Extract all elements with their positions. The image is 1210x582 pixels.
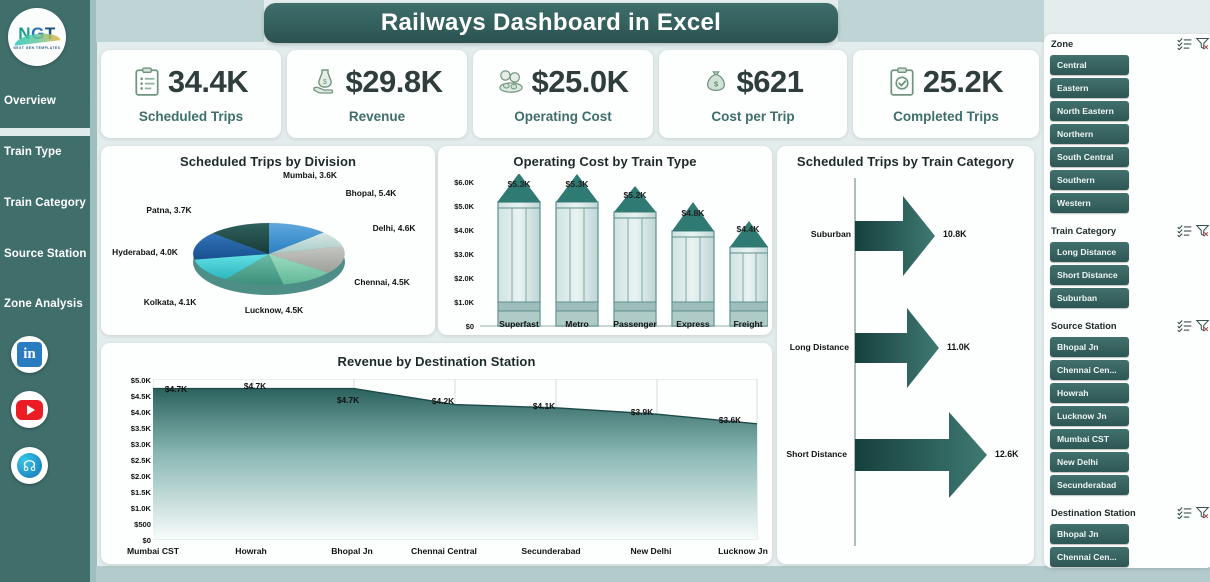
x-label-passenger: Passenger: [605, 319, 665, 329]
chart-operating-cost-by-train-type[interactable]: Operating Cost by Train Type $0 $1.0K $2…: [438, 146, 772, 335]
area-value-howrah: $4.7K: [234, 381, 276, 391]
y-tick-1: $500: [109, 520, 151, 529]
y-tick-3: $1.5K: [109, 488, 151, 497]
pie-label-chennai: Chennai, 4.5K: [351, 278, 413, 288]
y-tick-5: $2.5K: [109, 456, 151, 465]
x-label-express: Express: [663, 319, 723, 329]
x-label-bhopal-jn: Bhopal Jn: [306, 546, 398, 556]
kpi-value: $25.0K: [532, 64, 629, 100]
slicer-option[interactable]: Central: [1050, 55, 1129, 75]
coins-stack-icon: [498, 67, 524, 97]
slicer-option[interactable]: Eastern: [1050, 78, 1129, 98]
chart-title: Revenue by Destination Station: [101, 343, 772, 369]
bar-value-express: $4.8K: [670, 208, 716, 218]
x-label-superfast: Superfast: [489, 319, 549, 329]
youtube-icon[interactable]: [11, 391, 48, 428]
area-value-lucknow-jn: $3.6K: [709, 415, 751, 425]
slicer-option[interactable]: Bhopal Jn: [1050, 337, 1129, 357]
chart-title: Scheduled Trips by Train Category: [777, 146, 1034, 169]
arrow-label-short-distance: Short Distance: [777, 449, 847, 459]
multi-select-icon[interactable]: [1177, 224, 1192, 237]
kpi-label: Revenue: [349, 109, 405, 124]
page-title: Railways Dashboard in Excel: [264, 3, 838, 43]
clipboard-list-icon: [134, 67, 160, 97]
x-label-lucknow-jn: Lucknow Jn: [697, 546, 789, 556]
pie-label-bhopal: Bhopal, 5.4K: [333, 189, 409, 199]
slicer-option[interactable]: Northern: [1050, 124, 1129, 144]
slicer-title: Destination Station: [1051, 508, 1174, 518]
kpi-value: 25.2K: [923, 64, 1003, 100]
sidebar-item-train-category[interactable]: Train Category: [4, 197, 86, 209]
slicer-header-destination-station: Destination Station: [1044, 503, 1210, 522]
chart-title: Scheduled Trips by Division: [101, 146, 435, 169]
kpi-value: 34.4K: [168, 64, 248, 100]
clear-filter-icon[interactable]: [1195, 319, 1210, 332]
multi-select-icon[interactable]: [1177, 506, 1192, 519]
sidebar-item-overview[interactable]: Overview: [4, 95, 56, 107]
kpi-card-revenue[interactable]: $ $29.8K Revenue: [287, 50, 467, 138]
header-band-left: [96, 0, 264, 42]
y-tick-6: $6.0K: [440, 178, 474, 187]
slicer-title: Zone: [1051, 39, 1174, 49]
chart-title: Operating Cost by Train Type: [438, 146, 772, 169]
sidebar-item-train-type[interactable]: Train Type: [4, 146, 62, 158]
canvas-left-accent: [90, 0, 97, 582]
slicer-option[interactable]: Southern: [1050, 170, 1129, 190]
x-label-freight: Freight: [718, 319, 778, 329]
slicer-header-source-station: Source Station: [1044, 316, 1210, 335]
bottom-bar: [96, 566, 1210, 582]
linkedin-icon[interactable]: in: [11, 336, 48, 373]
clipboard-check-icon: [889, 67, 915, 97]
multi-select-icon[interactable]: [1177, 37, 1192, 50]
website-icon[interactable]: ☊: [11, 447, 48, 484]
slicer-title: Train Category: [1051, 226, 1174, 236]
svg-text:$: $: [323, 79, 327, 86]
clear-filter-icon[interactable]: [1195, 37, 1210, 50]
arrow-value-long-distance: 11.0K: [947, 342, 970, 352]
slicer-option[interactable]: Chennai Cen...: [1050, 547, 1129, 567]
slicer-option[interactable]: North Eastern: [1050, 101, 1129, 121]
x-label-metro: Metro: [547, 319, 607, 329]
logo-subtitle: NEXT GEN TEMPLATES: [13, 46, 60, 50]
slicer-option[interactable]: Secunderabad: [1050, 475, 1129, 495]
y-tick-8: $4.0K: [109, 408, 151, 417]
filter-panel: Zone Central Eastern North Eastern North…: [1044, 34, 1210, 568]
slicer-option[interactable]: Long Distance: [1050, 242, 1129, 262]
slicer-options-source-station: Bhopal Jn Chennai Cen... Howrah Lucknow …: [1044, 335, 1210, 500]
y-tick-3: $3.0K: [440, 250, 474, 259]
pie-graphic: [179, 204, 359, 304]
bar-value-metro: $5.3K: [554, 179, 600, 189]
x-label-secunderabad: Secunderabad: [505, 546, 597, 556]
slicer-options-destination-station: Bhopal Jn Chennai Cen... Howrah Lucknow …: [1044, 522, 1210, 568]
area-value-new-delhi: $3.9K: [621, 407, 663, 417]
slicer-option[interactable]: Lucknow Jn: [1050, 406, 1129, 426]
y-tick-9: $4.5K: [109, 392, 151, 401]
kpi-value: $621: [737, 64, 804, 100]
bar-value-freight: $4.4K: [725, 224, 771, 234]
kpi-value: $29.8K: [346, 64, 443, 100]
y-tick-0: $0: [109, 536, 151, 545]
x-label-chennai-central: Chennai Central: [398, 546, 490, 556]
chart-revenue-by-destination-station[interactable]: Revenue by Destination Station $0 $500 $…: [101, 343, 772, 564]
slicer-option[interactable]: Mumbai CST: [1050, 429, 1129, 449]
arrow-value-short-distance: 12.6K: [995, 449, 1018, 459]
slicer-option[interactable]: Bhopal Jn: [1050, 524, 1129, 544]
x-label-new-delhi: New Delhi: [605, 546, 697, 556]
y-tick-4: $2.0K: [109, 472, 151, 481]
pie-label-lucknow: Lucknow, 4.5K: [241, 306, 307, 316]
money-hand-icon: $: [312, 67, 338, 97]
slicer-option[interactable]: Chennai Cen...: [1050, 360, 1129, 380]
x-label-mumbai-cst: Mumbai CST: [107, 546, 199, 556]
area-value-secunderabad: $4.1K: [523, 401, 565, 411]
slicer-option[interactable]: Suburban: [1050, 288, 1129, 308]
x-label-howrah: Howrah: [205, 546, 297, 556]
y-tick-1: $1.0K: [440, 298, 474, 307]
money-bag-icon: $: [703, 67, 729, 97]
pie-label-mumbai: Mumbai, 3.6K: [277, 171, 343, 181]
area-value-chennai-central: $4.2K: [422, 396, 464, 406]
clear-filter-icon[interactable]: [1195, 506, 1210, 519]
arrow-label-long-distance: Long Distance: [779, 342, 849, 352]
y-tick-4: $4.0K: [440, 226, 474, 235]
ngt-logo: NGT NEXT GEN TEMPLATES: [8, 8, 66, 66]
slicer-title: Source Station: [1051, 321, 1174, 331]
sidebar-item-zone-analysis[interactable]: Zone Analysis: [4, 298, 83, 310]
bar-value-superfast: $5.3K: [496, 179, 542, 189]
bar-value-passenger: $5.2K: [612, 190, 658, 200]
sidebar-item-source-station[interactable]: Source Station: [4, 248, 87, 260]
kpi-label: Completed Trips: [893, 109, 999, 124]
chart-scheduled-trips-by-division[interactable]: Scheduled Trips by Division Mumbai, 3.6K…: [101, 146, 435, 335]
slicer-header-train-category: Train Category: [1044, 221, 1210, 240]
kpi-card-scheduled-trips[interactable]: 34.4K Scheduled Trips: [101, 50, 281, 138]
y-tick-2: $1.0K: [109, 504, 151, 513]
slicer-header-zone: Zone: [1044, 34, 1210, 53]
slicer-option[interactable]: Howrah: [1050, 383, 1129, 403]
slicer-options-zone: Central Eastern North Eastern Northern S…: [1044, 53, 1210, 218]
pie-label-delhi: Delhi, 4.6K: [359, 224, 429, 234]
pie-label-hyderabad: Hyderabad, 4.0K: [109, 248, 181, 258]
chart-scheduled-trips-by-train-category[interactable]: Scheduled Trips by Train Category Suburb…: [777, 146, 1034, 564]
sidebar: NGT NEXT GEN TEMPLATES Overview Train Ty…: [0, 0, 90, 582]
slicer-options-train-category: Long Distance Short Distance Suburban: [1044, 240, 1210, 313]
y-tick-0: $0: [440, 322, 474, 331]
kpi-card-completed-trips[interactable]: 25.2K Completed Trips: [853, 50, 1039, 138]
area-value-mumbai-cst: $4.7K: [155, 384, 197, 394]
sidebar-divider: [0, 128, 90, 136]
y-tick-2: $2.0K: [440, 274, 474, 283]
clear-filter-icon[interactable]: [1195, 224, 1210, 237]
multi-select-icon[interactable]: [1177, 319, 1192, 332]
y-tick-10: $5.0K: [109, 376, 151, 385]
area-value-bhopal-jn: $4.7K: [327, 395, 369, 405]
slicer-option[interactable]: New Delhi: [1050, 452, 1129, 472]
y-tick-6: $3.0K: [109, 440, 151, 449]
slicer-option[interactable]: Short Distance: [1050, 265, 1129, 285]
slicer-option[interactable]: Western: [1050, 193, 1129, 213]
arrow-label-suburban: Suburban: [781, 229, 851, 239]
slicer-option[interactable]: South Central: [1050, 147, 1129, 167]
y-tick-7: $3.5K: [109, 424, 151, 433]
kpi-card-cost-per-trip[interactable]: $ $621 Cost per Trip: [659, 50, 847, 138]
arrow-value-suburban: 10.8K: [943, 229, 966, 239]
kpi-card-operating-cost[interactable]: $25.0K Operating Cost: [473, 50, 653, 138]
header-band-right: [838, 0, 1044, 42]
kpi-label: Scheduled Trips: [139, 109, 243, 124]
kpi-label: Cost per Trip: [711, 109, 794, 124]
kpi-label: Operating Cost: [514, 109, 612, 124]
y-tick-5: $5.0K: [440, 202, 474, 211]
